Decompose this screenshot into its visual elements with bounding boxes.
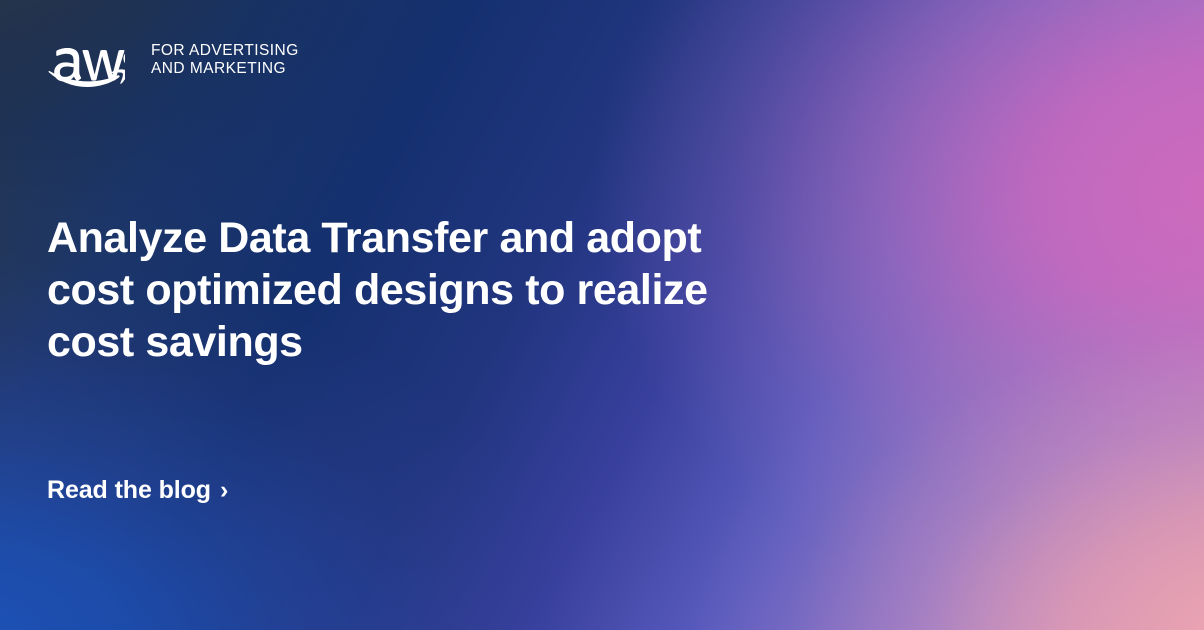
- cta-label: Read the blog: [47, 474, 211, 506]
- banner-content: FOR ADVERTISING AND MARKETING Analyze Da…: [0, 0, 1204, 630]
- read-the-blog-link[interactable]: Read the blog ›: [47, 474, 228, 506]
- aws-lockup-tagline: FOR ADVERTISING AND MARKETING: [151, 42, 299, 77]
- aws-logo-icon: [47, 36, 125, 88]
- aws-marketing-banner: FOR ADVERTISING AND MARKETING Analyze Da…: [0, 0, 1204, 630]
- chevron-right-icon: ›: [220, 474, 228, 506]
- aws-logo-lockup: FOR ADVERTISING AND MARKETING: [47, 36, 299, 88]
- page-title: Analyze Data Transfer and adopt cost opt…: [47, 212, 708, 368]
